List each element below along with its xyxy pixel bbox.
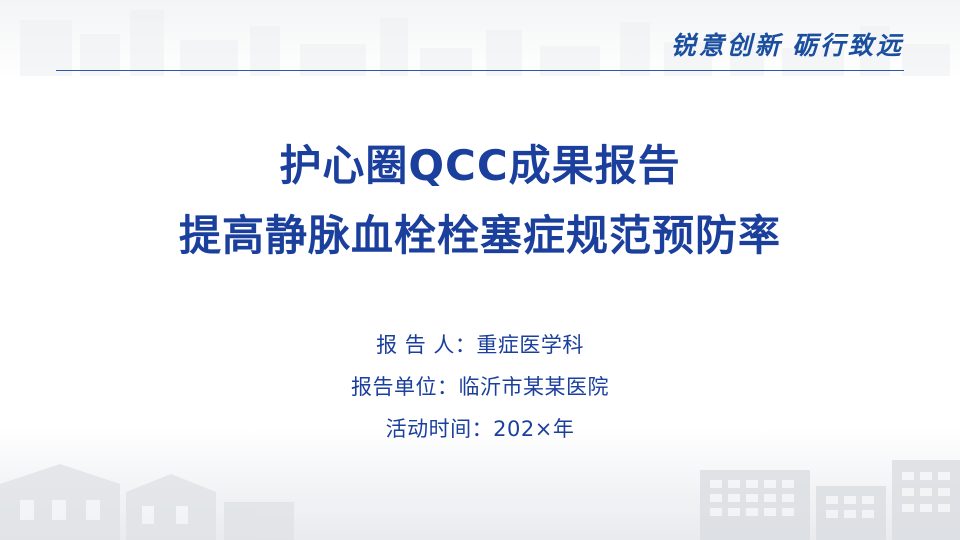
presentation-title-slide: 锐意创新 砺行致远 护心圈QCC成果报告 提高静脉血栓栓塞症规范预防率 报 告 … (0, 0, 960, 540)
page-title: 护心圈QCC成果报告 (0, 138, 960, 194)
header-divider (56, 70, 904, 71)
meta-label-date: 活动时间： (386, 417, 494, 441)
meta-row-organization: 报告单位：临沂市某某医院 (0, 366, 960, 408)
header-slogan: 锐意创新 砺行致远 (671, 26, 904, 62)
meta-value-date: 202×年 (493, 417, 574, 441)
meta-label-organization: 报告单位： (351, 375, 459, 399)
meta-block: 报 告 人：重症医学科 报告单位：临沂市某某医院 活动时间：202×年 (0, 324, 960, 450)
meta-row-presenter: 报 告 人：重症医学科 (0, 324, 960, 366)
meta-value-presenter: 重症医学科 (476, 333, 584, 357)
title-block: 护心圈QCC成果报告 提高静脉血栓栓塞症规范预防率 (0, 138, 960, 264)
meta-value-organization: 临沂市某某医院 (459, 375, 610, 399)
meta-label-presenter: 报 告 人： (376, 333, 476, 357)
meta-row-date: 活动时间：202×年 (0, 408, 960, 450)
page-subtitle: 提高静脉血栓栓塞症规范预防率 (0, 208, 960, 264)
